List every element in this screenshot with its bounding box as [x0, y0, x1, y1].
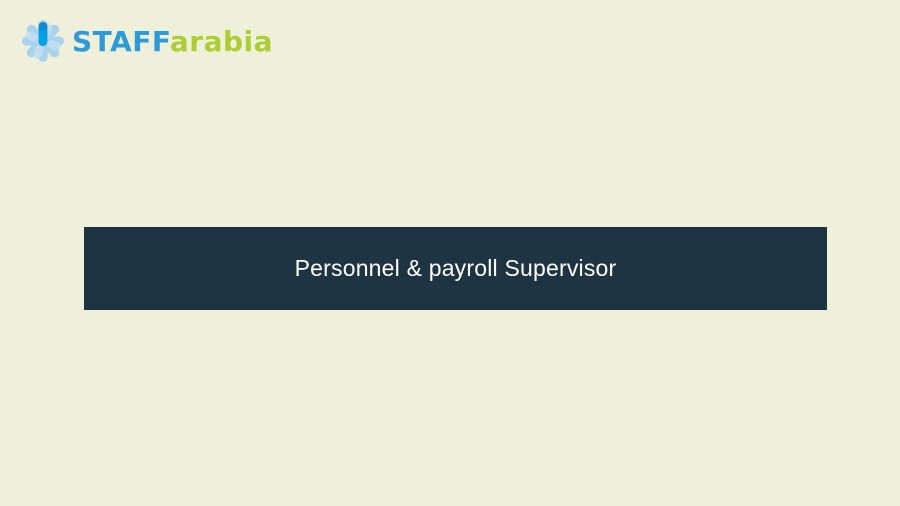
title-banner: Personnel & payroll Supervisor [84, 227, 827, 310]
slide-title: Personnel & payroll Supervisor [295, 255, 617, 283]
slide-canvas: STAFFarabia Personnel & payroll Supervis… [0, 0, 900, 506]
wordmark-staff: STAFF [72, 25, 170, 58]
brand-wordmark: STAFFarabia [72, 27, 273, 56]
staffarabia-starburst-logo-icon [20, 18, 66, 64]
wordmark-arabia: arabia [170, 25, 273, 58]
brand-logo: STAFFarabia [20, 16, 260, 66]
